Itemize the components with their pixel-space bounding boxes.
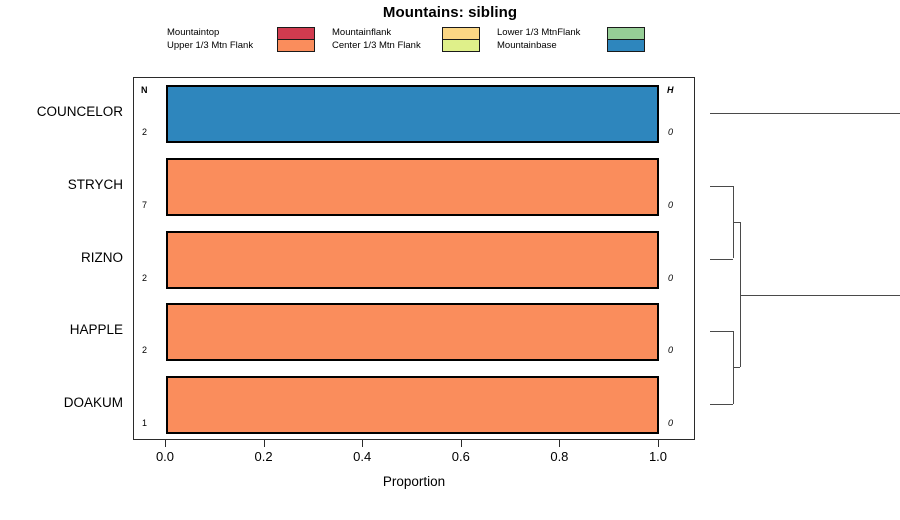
- x-axis-tick: [559, 440, 560, 447]
- legend-swatch-mountaintop: [278, 28, 314, 40]
- legend-item-label-upper-third-mtn-flank: Upper 1/3 Mtn Flank: [167, 39, 275, 52]
- bar-happle[interactable]: [166, 303, 659, 361]
- bar-row: [134, 158, 696, 216]
- category-label-happle: HAPPLE: [0, 322, 123, 337]
- category-label-rizno: RIZNO: [0, 250, 123, 265]
- h-value-councelor: 0: [668, 127, 673, 137]
- dendrogram: [700, 77, 900, 440]
- legend-group-2-swatches: [442, 27, 480, 52]
- x-axis-tick-label: 0.2: [244, 449, 284, 464]
- n-value-rizno: 2: [142, 273, 147, 283]
- dendrogram-leaf-happle: [710, 331, 733, 332]
- x-axis-tick-label: 0.6: [441, 449, 481, 464]
- x-axis-tick: [362, 440, 363, 447]
- legend-item-label-mountainflank: Mountainflank: [332, 26, 440, 39]
- x-axis-tick-label: 0.4: [342, 449, 382, 464]
- bar-row: [134, 303, 696, 361]
- dendrogram-branch-cluster: [740, 295, 900, 296]
- category-label-councelor: COUNCELOR: [0, 104, 123, 119]
- x-axis-tick-label: 0.8: [539, 449, 579, 464]
- legend-swatch-mountainflank: [443, 28, 479, 40]
- bar-row: [134, 231, 696, 289]
- n-value-councelor: 2: [142, 127, 147, 137]
- legend-group-3-swatches: [607, 27, 645, 52]
- legend: Mountaintop Upper 1/3 Mtn Flank Mountain…: [167, 26, 667, 56]
- legend-item-label-center-third-mtn-flank: Center 1/3 Mtn Flank: [332, 39, 440, 52]
- page-title: Mountains: sibling: [0, 4, 900, 21]
- legend-swatch-center-third-mtn-flank: [443, 40, 479, 52]
- n-value-doakum: 1: [142, 418, 147, 428]
- n-column-header: N: [141, 85, 148, 95]
- x-axis-tick: [165, 440, 166, 447]
- legend-swatch-lower-third-mtn-flank: [608, 28, 644, 40]
- dendrogram-leaf-rizno: [710, 259, 733, 260]
- x-axis-tick: [658, 440, 659, 447]
- legend-item-label-mountainbase: Mountainbase: [497, 39, 605, 52]
- dendrogram-leaf-councelor: [710, 113, 900, 114]
- category-label-doakum: DOAKUM: [0, 395, 123, 410]
- bar-doakum[interactable]: [166, 376, 659, 434]
- legend-item-label-lower-third-mtn-flank: Lower 1/3 MtnFlank: [497, 26, 605, 39]
- bar-row: [134, 376, 696, 434]
- legend-group-1-labels: Mountaintop Upper 1/3 Mtn Flank: [167, 26, 275, 52]
- n-value-strych: 7: [142, 200, 147, 210]
- h-value-strych: 0: [668, 200, 673, 210]
- x-axis: Proportion 0.00.20.40.60.81.0: [133, 440, 695, 510]
- x-axis-title: Proportion: [133, 474, 695, 489]
- dendrogram-branch-lower-pair: [733, 367, 740, 368]
- bar-councelor[interactable]: [166, 85, 659, 143]
- h-column-header: H: [667, 85, 674, 95]
- category-label-strych: STRYCH: [0, 177, 123, 192]
- legend-group-2-labels: Mountainflank Center 1/3 Mtn Flank: [332, 26, 440, 52]
- h-value-happle: 0: [668, 345, 673, 355]
- n-value-happle: 2: [142, 345, 147, 355]
- dendrogram-leaf-strych: [710, 186, 733, 187]
- x-axis-tick: [461, 440, 462, 447]
- legend-item-label-mountaintop: Mountaintop: [167, 26, 275, 39]
- bar-row: [134, 85, 696, 143]
- h-value-rizno: 0: [668, 273, 673, 283]
- legend-group-1-swatches: [277, 27, 315, 52]
- dendrogram-branch-upper-pair: [733, 222, 740, 223]
- legend-swatch-upper-third-mtn-flank: [278, 40, 314, 52]
- plot-panel: [133, 77, 695, 440]
- x-axis-tick: [264, 440, 265, 447]
- bar-rizno[interactable]: [166, 231, 659, 289]
- legend-swatch-mountainbase: [608, 40, 644, 52]
- x-axis-tick-label: 0.0: [145, 449, 185, 464]
- legend-group-3-labels: Lower 1/3 MtnFlank Mountainbase: [497, 26, 605, 52]
- dendrogram-leaf-doakum: [710, 404, 733, 405]
- bar-strych[interactable]: [166, 158, 659, 216]
- x-axis-tick-label: 1.0: [638, 449, 678, 464]
- h-value-doakum: 0: [668, 418, 673, 428]
